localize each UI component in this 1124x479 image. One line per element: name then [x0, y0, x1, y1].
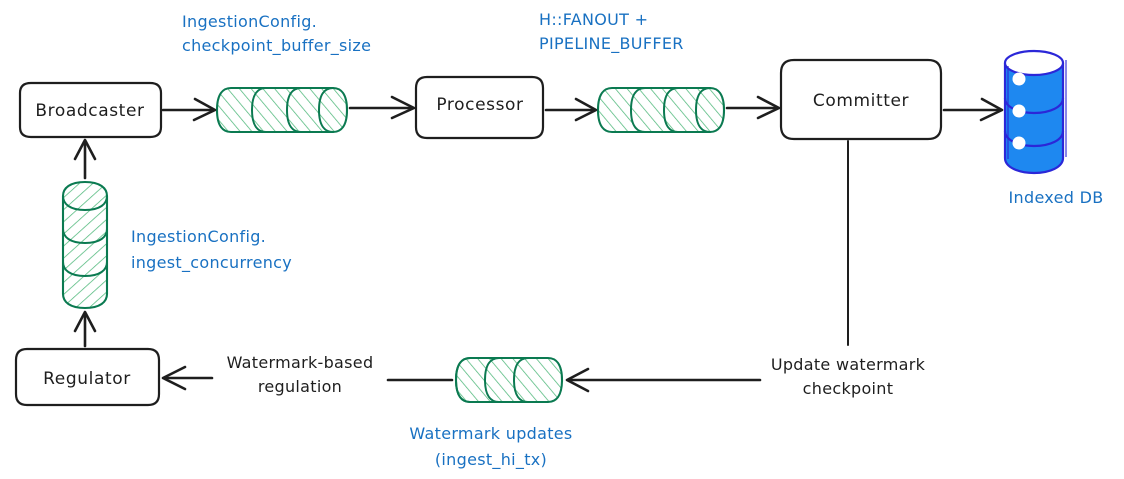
- annotation-watermark-updates: Watermark updates (ingest_hi_tx): [409, 424, 572, 470]
- edge-label-watermark-based-regulation: Watermark-based regulation: [227, 353, 374, 396]
- diagram-text-layer: Broadcaster Processor Committer Regulato…: [0, 0, 1124, 479]
- svg-text:IngestionConfig.: IngestionConfig.: [182, 12, 317, 31]
- svg-text:Watermark-based: Watermark-based: [227, 353, 374, 372]
- svg-text:(ingest_hi_tx): (ingest_hi_tx): [435, 450, 547, 470]
- svg-text:regulation: regulation: [258, 377, 342, 396]
- annotation-ingest-concurrency: IngestionConfig. ingest_concurrency: [131, 227, 292, 273]
- svg-text:ingest_concurrency: ingest_concurrency: [131, 253, 292, 273]
- svg-text:Watermark updates: Watermark updates: [409, 424, 572, 443]
- annotation-indexed-db-caption: Indexed DB: [1009, 188, 1104, 207]
- svg-text:PIPELINE_BUFFER: PIPELINE_BUFFER: [539, 34, 684, 54]
- svg-text:H::FANOUT +: H::FANOUT +: [539, 10, 648, 29]
- svg-text:Update watermark: Update watermark: [771, 355, 926, 374]
- node-label-broadcaster: Broadcaster: [35, 101, 144, 121]
- node-label-committer: Committer: [813, 91, 909, 111]
- svg-text:checkpoint: checkpoint: [803, 379, 894, 398]
- annotation-checkpoint-buffer-size: IngestionConfig. checkpoint_buffer_size: [182, 12, 371, 56]
- svg-text:checkpoint_buffer_size: checkpoint_buffer_size: [182, 36, 371, 56]
- svg-text:IngestionConfig.: IngestionConfig.: [131, 227, 266, 246]
- annotation-fanout-pipeline-buffer: H::FANOUT + PIPELINE_BUFFER: [539, 10, 684, 54]
- diagram-canvas: Broadcaster Processor Committer Regulato…: [0, 0, 1124, 479]
- node-label-regulator: Regulator: [43, 369, 131, 389]
- node-label-processor: Processor: [436, 95, 523, 115]
- edge-label-update-watermark-checkpoint: Update watermark checkpoint: [771, 355, 926, 398]
